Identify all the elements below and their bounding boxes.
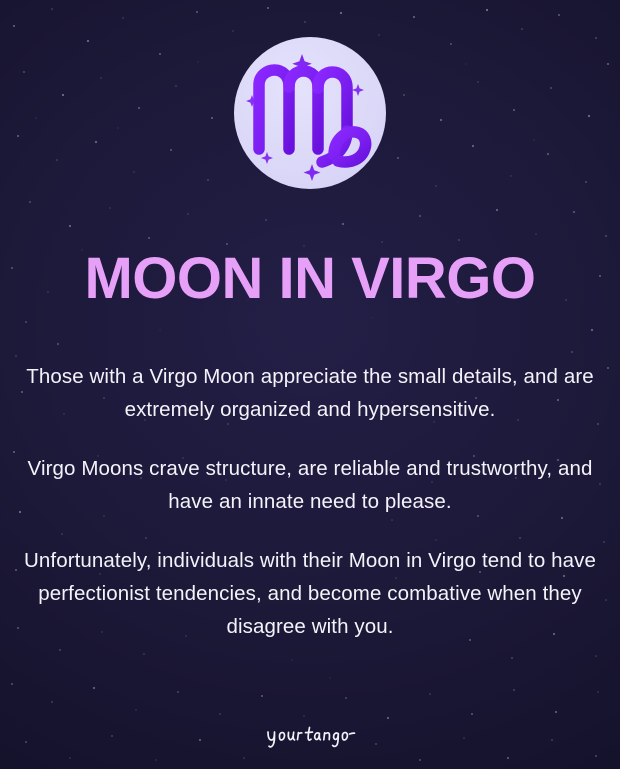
paragraph-2: Virgo Moons crave structure, are reliabl… <box>24 452 596 518</box>
brand-logo-yourtango <box>0 722 620 755</box>
paragraph-3: Unfortunately, individuals with their Mo… <box>24 544 596 643</box>
zodiac-info-card: MOON IN VIRGO Those with a Virgo Moon ap… <box>0 0 620 769</box>
yourtango-wordmark-icon <box>264 722 356 750</box>
description-block: Those with a Virgo Moon appreciate the s… <box>24 360 596 643</box>
virgo-glyph-icon <box>234 37 386 189</box>
page-title: MOON IN VIRGO <box>0 246 620 312</box>
virgo-moon-badge <box>234 37 386 189</box>
paragraph-1: Those with a Virgo Moon appreciate the s… <box>24 360 596 426</box>
